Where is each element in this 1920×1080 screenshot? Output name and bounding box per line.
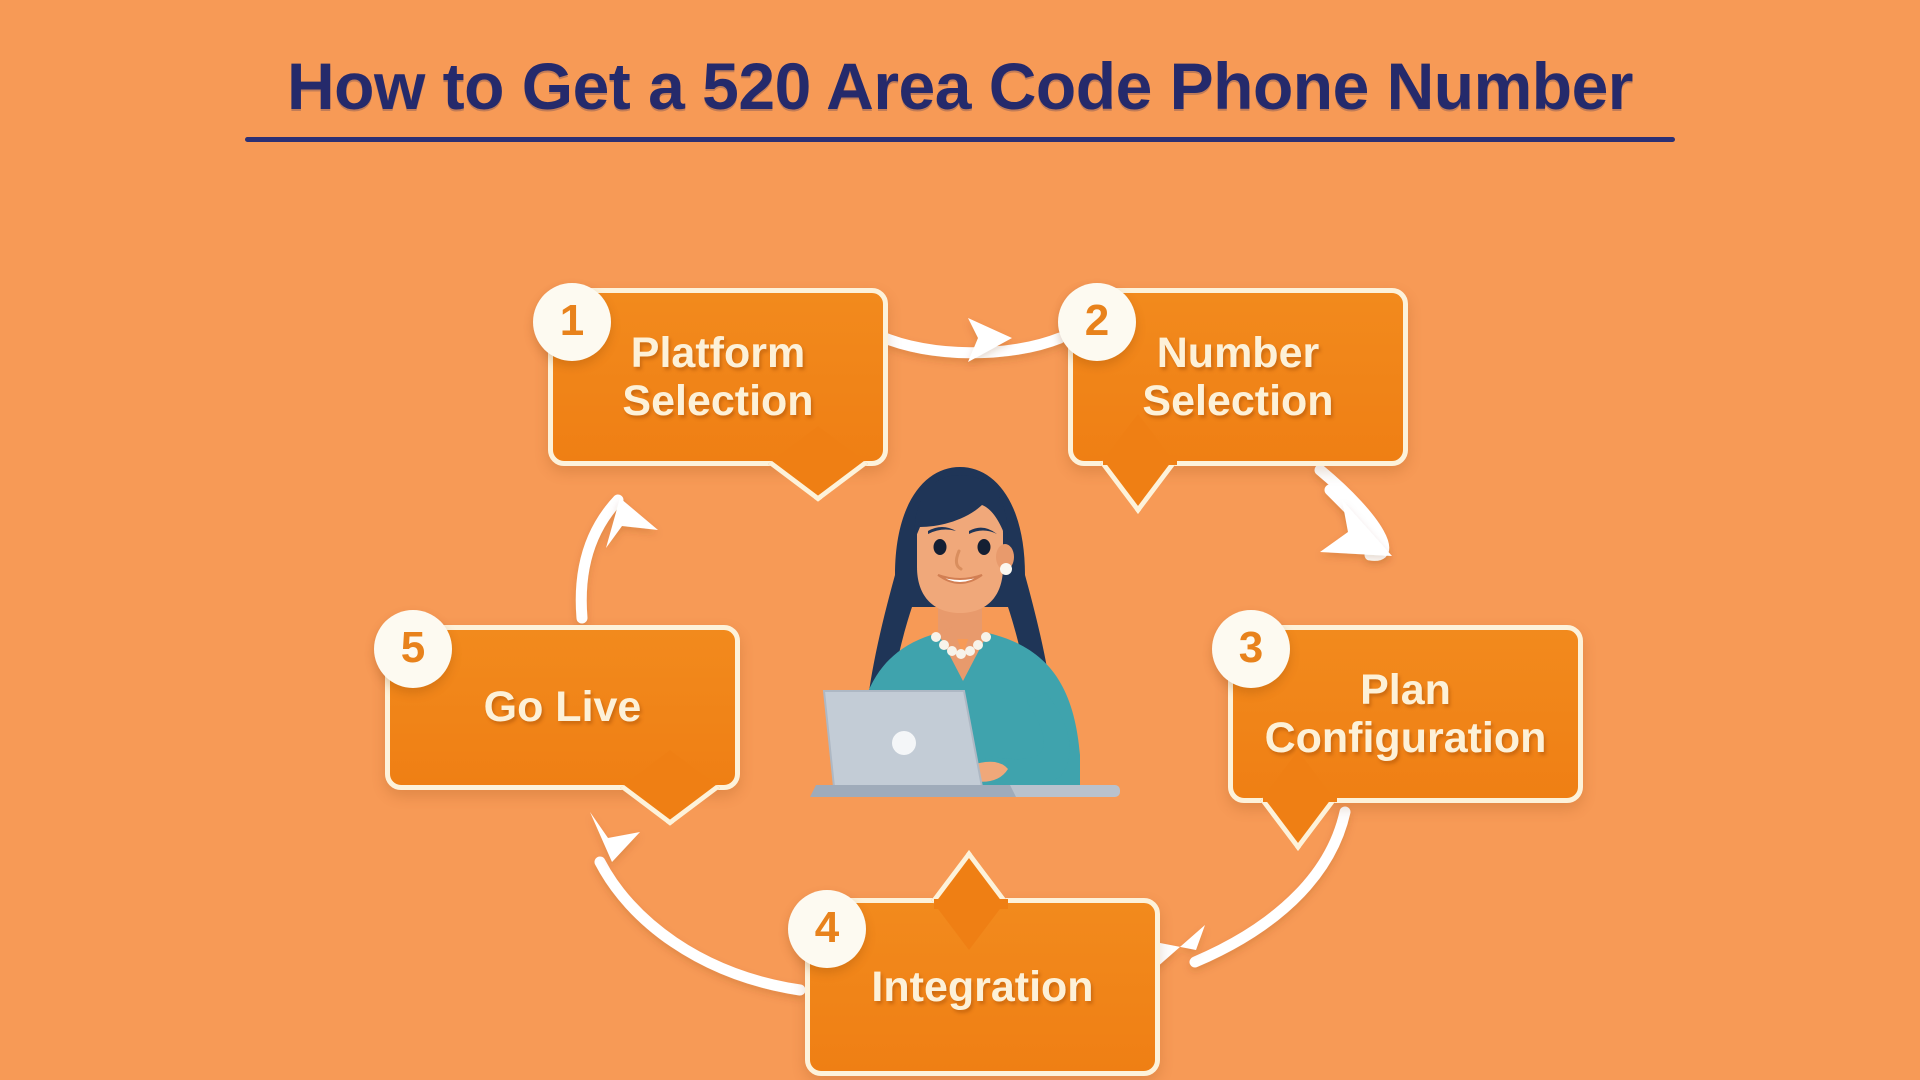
step-label: Number Selection (1132, 329, 1343, 425)
arrow-path-2-to-3-b (1320, 470, 1384, 555)
step-badge-4: 4 (788, 890, 866, 968)
bubble-tail-mask (1263, 792, 1337, 802)
step-label: Integration (861, 963, 1103, 1011)
step-label: Go Live (474, 683, 652, 731)
page-title: How to Get a 520 Area Code Phone Number (0, 52, 1920, 121)
title-underline (245, 137, 1675, 142)
step-number: 1 (560, 299, 584, 343)
step-badge-3: 3 (1212, 610, 1290, 688)
arrowhead-2-to-3 (1320, 500, 1392, 556)
title-block: How to Get a 520 Area Code Phone Number (0, 52, 1920, 142)
step-number: 2 (1085, 299, 1109, 343)
step-badge-1: 1 (533, 283, 611, 361)
bubble-tail-mask (934, 899, 1008, 909)
arrowhead-4-to-5 (590, 812, 640, 862)
arrow-path-5-to-1 (581, 500, 618, 618)
laptop-logo-icon (892, 731, 916, 755)
arrowhead-5-to-1 (606, 498, 658, 548)
bubble-tail-mask (631, 779, 705, 789)
eye-right (978, 539, 991, 555)
bubble-tail-mask (1103, 455, 1177, 465)
arrow-path-4-to-5 (600, 862, 800, 990)
eye-left (934, 539, 947, 555)
arrow-path-2-to-3 (1330, 490, 1383, 548)
step-badge-2: 2 (1058, 283, 1136, 361)
arrow-path-3-to-4 (1195, 812, 1345, 962)
infographic-canvas: How to Get a 520 Area Code Phone Number (0, 0, 1920, 1080)
step-badge-5: 5 (374, 610, 452, 688)
step-label: Plan Configuration (1255, 666, 1557, 762)
step-label: Platform Selection (612, 329, 823, 425)
illustration-woman-working-on-laptop (760, 455, 1160, 820)
arrowhead-1-to-2 (968, 318, 1012, 362)
step-number: 5 (401, 626, 425, 670)
step-number: 3 (1239, 626, 1263, 670)
step-number: 4 (815, 906, 839, 950)
laptop-base (810, 785, 1016, 797)
bubble-tail-mask (779, 455, 853, 465)
arrow-path-1-to-2 (880, 336, 1060, 353)
earring-icon (1000, 563, 1012, 575)
